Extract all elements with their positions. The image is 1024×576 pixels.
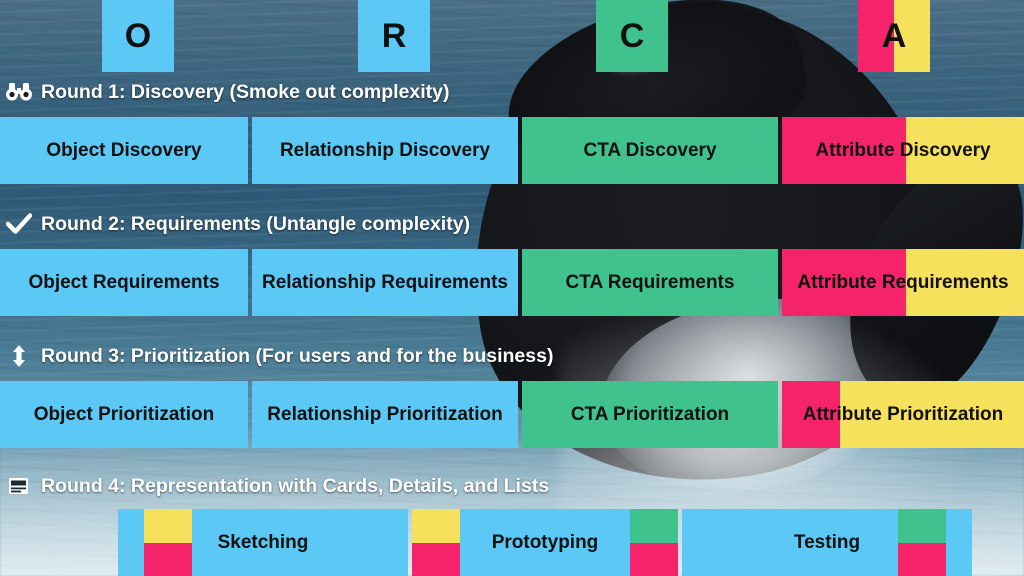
- round-3-phase-row: Object Prioritization Relationship Prior…: [0, 381, 1024, 448]
- round-2-title: Round 2: Requirements (Untangle complexi…: [41, 213, 470, 236]
- cell-cta-discovery[interactable]: CTA Discovery: [522, 117, 778, 184]
- round-2-phase-row: Object Requirements Relationship Require…: [0, 249, 1024, 316]
- round-3-title: Round 3: Prioritization (For users and f…: [41, 345, 553, 368]
- cell-attribute-discovery[interactable]: Attribute Discovery: [782, 117, 1024, 184]
- round-4-item-testing-label: Testing: [794, 532, 860, 554]
- chip-pink: [144, 543, 192, 576]
- letter-a: A: [858, 0, 930, 72]
- cell-relationship-prioritization[interactable]: Relationship Prioritization: [252, 381, 518, 448]
- round-1-header: Round 1: Discovery (Smoke out complexity…: [6, 80, 450, 104]
- cell-relationship-discovery-label: Relationship Discovery: [280, 140, 490, 162]
- prototyping-right-chips: [630, 509, 678, 576]
- letter-r: R: [358, 0, 430, 72]
- testing-right-chips: [898, 509, 946, 576]
- chip-yellow: [144, 509, 192, 543]
- round-4-item-prototyping[interactable]: Prototyping: [412, 509, 678, 576]
- round-3-header: Round 3: Prioritization (For users and f…: [6, 344, 553, 368]
- orca-acronym-row: O R C A: [0, 0, 1024, 72]
- round-2-header: Round 2: Requirements (Untangle complexi…: [6, 212, 470, 236]
- round-4-title: Round 4: Representation with Cards, Deta…: [41, 475, 549, 498]
- cell-relationship-discovery[interactable]: Relationship Discovery: [252, 117, 518, 184]
- round-4-item-sketching-label: Sketching: [218, 532, 309, 554]
- sketching-left-chips: [144, 509, 192, 576]
- chip-yellow: [412, 509, 460, 543]
- chip-pink: [898, 543, 946, 576]
- prototyping-left-chips: [412, 509, 460, 576]
- cell-object-prioritization[interactable]: Object Prioritization: [0, 381, 248, 448]
- chip-pink: [412, 543, 460, 576]
- chip-pink: [630, 543, 678, 576]
- cell-cta-requirements-label: CTA Requirements: [566, 272, 735, 294]
- letter-c-glyph: C: [620, 17, 645, 56]
- cell-cta-prioritization-label: CTA Prioritization: [571, 404, 729, 426]
- up-down-arrow-icon: [6, 344, 32, 368]
- letter-r-glyph: R: [382, 17, 407, 56]
- cell-relationship-requirements-label: Relationship Requirements: [262, 272, 508, 294]
- cell-attribute-requirements-label: Attribute Requirements: [782, 272, 1024, 294]
- check-icon: [6, 212, 32, 236]
- cell-cta-prioritization[interactable]: CTA Prioritization: [522, 381, 778, 448]
- chip-green: [898, 509, 946, 543]
- cell-object-discovery[interactable]: Object Discovery: [0, 117, 248, 184]
- round-1-phase-row: Object Discovery Relationship Discovery …: [0, 117, 1024, 184]
- cell-relationship-prioritization-label: Relationship Prioritization: [267, 404, 502, 426]
- cell-cta-requirements[interactable]: CTA Requirements: [522, 249, 778, 316]
- round-4-item-testing[interactable]: Testing: [682, 509, 972, 576]
- round-1-title: Round 1: Discovery (Smoke out complexity…: [41, 81, 450, 104]
- cell-object-requirements[interactable]: Object Requirements: [0, 249, 248, 316]
- binoculars-icon: [6, 80, 32, 104]
- cell-cta-discovery-label: CTA Discovery: [583, 140, 716, 162]
- letter-o: O: [102, 0, 174, 72]
- cards-icon: [6, 474, 32, 498]
- cell-attribute-prioritization-label: Attribute Prioritization: [782, 404, 1024, 426]
- cell-attribute-requirements[interactable]: Attribute Requirements: [782, 249, 1024, 316]
- orca-framework-diagram: O R C A Round 1: Discovery (Smok: [0, 0, 1024, 576]
- cell-object-discovery-label: Object Discovery: [46, 140, 201, 162]
- cell-object-prioritization-label: Object Prioritization: [34, 404, 215, 426]
- letter-o-glyph: O: [125, 17, 151, 56]
- cell-attribute-discovery-label: Attribute Discovery: [782, 140, 1024, 162]
- chip-green: [630, 509, 678, 543]
- round-4-item-sketching[interactable]: Sketching: [118, 509, 408, 576]
- cell-relationship-requirements[interactable]: Relationship Requirements: [252, 249, 518, 316]
- round-4-header: Round 4: Representation with Cards, Deta…: [6, 474, 549, 498]
- letter-a-glyph: A: [882, 17, 907, 56]
- cell-object-requirements-label: Object Requirements: [28, 272, 219, 294]
- letter-c: C: [596, 0, 668, 72]
- round-4-item-prototyping-label: Prototyping: [492, 532, 599, 554]
- round-4-items-row: Sketching Prototyping Testing: [118, 509, 1024, 576]
- cell-attribute-prioritization[interactable]: Attribute Prioritization: [782, 381, 1024, 448]
